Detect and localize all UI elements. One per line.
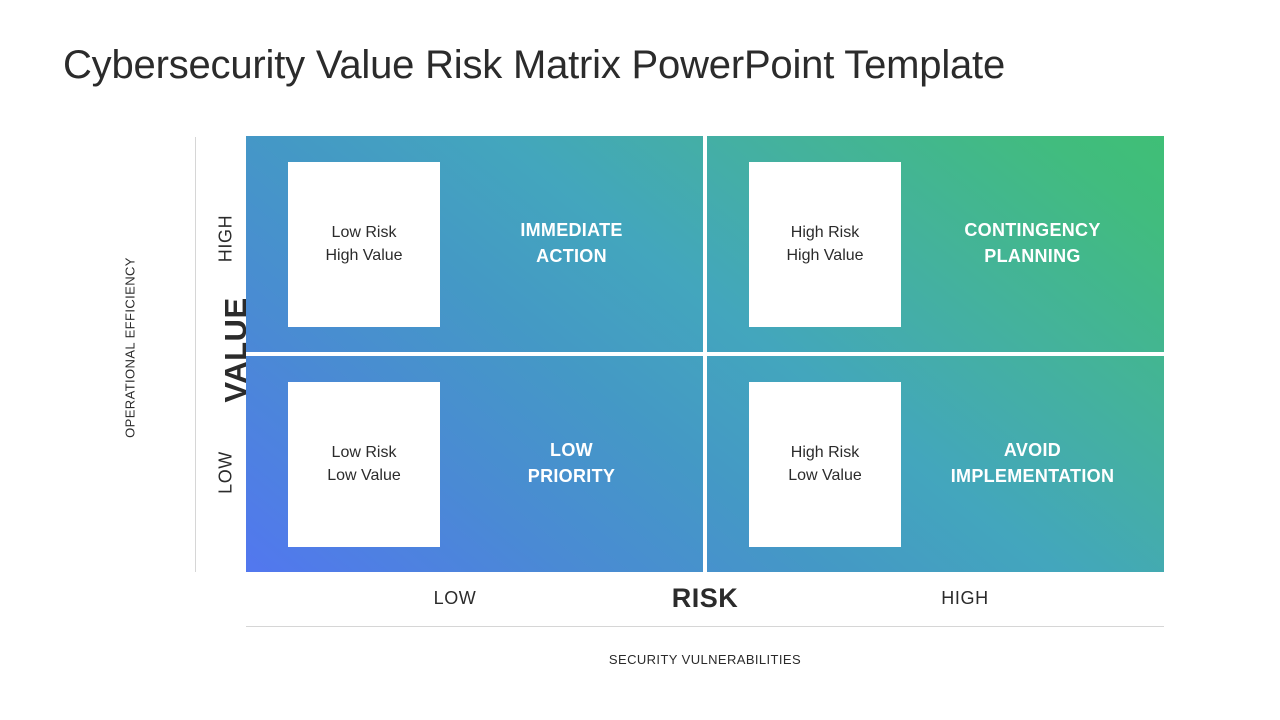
x-axis-rule <box>246 626 1164 627</box>
quadrant-low-value-low-risk[interactable]: Low Risk Low Value LOW PRIORITY <box>246 356 703 572</box>
card-line-2: Low Value <box>788 467 862 484</box>
y-axis-tick-low: LOW <box>216 343 237 603</box>
card-line-2: Low Value <box>327 467 401 484</box>
quadrant-card-text: High Risk High Value <box>786 221 863 267</box>
card-line-1: Low Risk <box>332 444 397 461</box>
card-line-2: High Value <box>325 247 402 264</box>
action-line-2: PLANNING <box>984 246 1080 266</box>
quadrant-high-value-low-risk[interactable]: Low Risk High Value IMMEDIATE ACTION <box>246 136 703 352</box>
x-axis-caption: SECURITY VULNERABILITIES <box>505 652 905 667</box>
action-line-2: PRIORITY <box>528 466 615 486</box>
card-line-1: High Risk <box>791 224 859 241</box>
quadrant-card: High Risk Low Value <box>749 382 901 547</box>
quadrant-high-value-high-risk[interactable]: High Risk High Value CONTINGENCY PLANNIN… <box>707 136 1164 352</box>
card-line-2: High Value <box>786 247 863 264</box>
quadrant-low-value-high-risk[interactable]: High Risk Low Value AVOID IMPLEMENTATION <box>707 356 1164 572</box>
card-line-1: Low Risk <box>332 224 397 241</box>
x-axis-tick-low: LOW <box>380 588 530 609</box>
action-line-1: IMMEDIATE <box>520 220 622 240</box>
action-line-2: IMPLEMENTATION <box>951 466 1115 486</box>
slide-canvas: Cybersecurity Value Risk Matrix PowerPoi… <box>0 0 1280 720</box>
quadrant-card: Low Risk High Value <box>288 162 440 327</box>
page-title: Cybersecurity Value Risk Matrix PowerPoi… <box>63 43 1183 88</box>
action-line-1: CONTINGENCY <box>964 220 1100 240</box>
risk-value-matrix: Low Risk High Value IMMEDIATE ACTION Hig… <box>246 136 1164 572</box>
action-line-1: AVOID <box>1004 440 1061 460</box>
card-line-1: High Risk <box>791 444 859 461</box>
quadrant-card-text: Low Risk Low Value <box>327 441 401 487</box>
quadrant-card-text: High Risk Low Value <box>788 441 862 487</box>
y-axis-tick-high: HIGH <box>216 109 237 369</box>
action-line-1: LOW <box>550 440 593 460</box>
quadrant-action-label: LOW PRIORITY <box>440 438 703 489</box>
x-axis-title: RISK <box>605 583 805 614</box>
quadrant-card-text: Low Risk High Value <box>325 221 402 267</box>
quadrant-action-label: CONTINGENCY PLANNING <box>901 218 1164 269</box>
quadrant-card: Low Risk Low Value <box>288 382 440 547</box>
quadrant-action-label: AVOID IMPLEMENTATION <box>901 438 1164 489</box>
y-axis-rule <box>195 137 196 572</box>
y-axis-caption: OPERATIONAL EFFICIENCY <box>123 198 138 498</box>
x-axis-tick-high: HIGH <box>890 588 1040 609</box>
action-line-2: ACTION <box>536 246 607 266</box>
quadrant-action-label: IMMEDIATE ACTION <box>440 218 703 269</box>
quadrant-card: High Risk High Value <box>749 162 901 327</box>
